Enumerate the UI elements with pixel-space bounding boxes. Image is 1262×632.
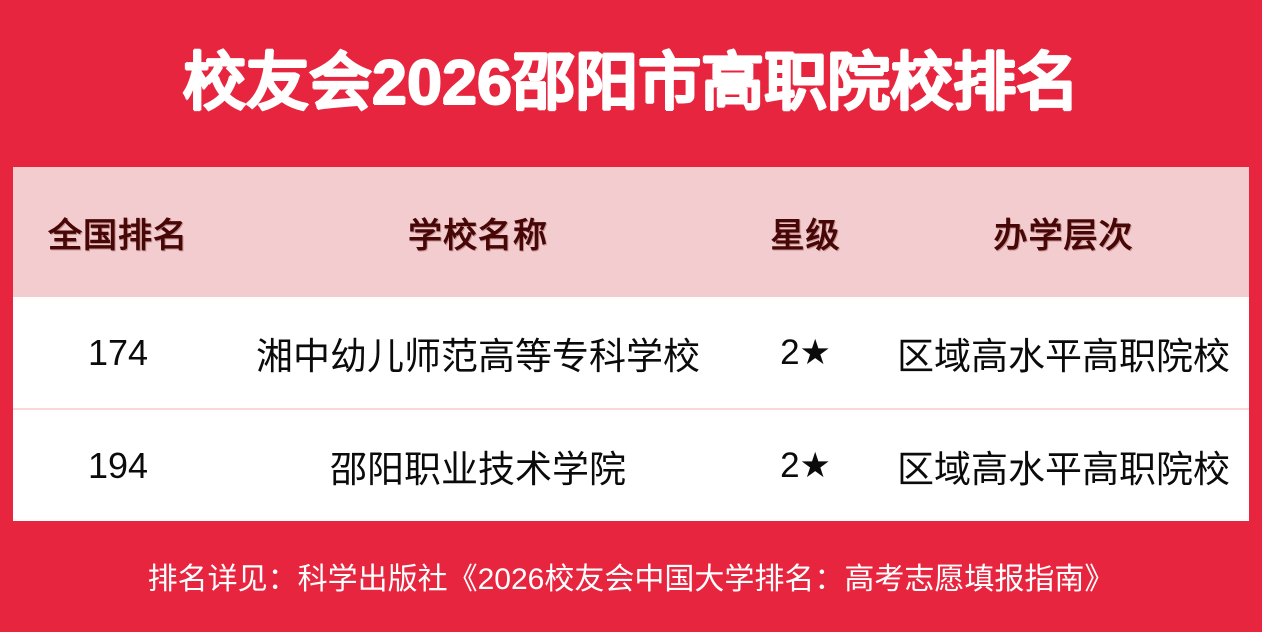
column-header-star: 星级	[733, 208, 878, 257]
cell-name: 湘中幼儿师范高等专科学校	[223, 326, 733, 380]
ranking-table: 全国排名 学校名称 星级 办学层次 174 湘中幼儿师范高等专科学校 2★ 区域…	[13, 167, 1249, 520]
footer-banner: 排名详见：科学出版社《2026校友会中国大学排名：高考志愿填报指南》	[0, 520, 1262, 632]
column-header-name: 学校名称	[223, 208, 733, 257]
cell-level: 区域高水平高职院校	[878, 439, 1249, 493]
cell-rank: 174	[13, 332, 223, 374]
title-banner: 校友会2026邵阳市高职院校排名	[0, 0, 1262, 167]
cell-star: 2★	[733, 446, 878, 486]
cell-rank: 194	[13, 445, 223, 487]
source-note: 排名详见：科学出版社《2026校友会中国大学排名：高考志愿填报指南》	[148, 554, 1115, 598]
cell-star: 2★	[733, 333, 878, 373]
page-title: 校友会2026邵阳市高职院校排名	[183, 50, 1079, 116]
table-row: 194 邵阳职业技术学院 2★ 区域高水平高职院校	[13, 408, 1249, 521]
ranking-poster: 校友会2026邵阳市高职院校排名 全国排名 学校名称 星级 办学层次 174 湘…	[0, 0, 1262, 632]
cell-level: 区域高水平高职院校	[878, 326, 1249, 380]
table-row: 174 湘中幼儿师范高等专科学校 2★ 区域高水平高职院校	[13, 297, 1249, 408]
table-header-row: 全国排名 学校名称 星级 办学层次	[13, 167, 1249, 297]
column-header-level: 办学层次	[878, 208, 1249, 257]
column-header-rank: 全国排名	[13, 208, 223, 257]
cell-name: 邵阳职业技术学院	[223, 439, 733, 493]
